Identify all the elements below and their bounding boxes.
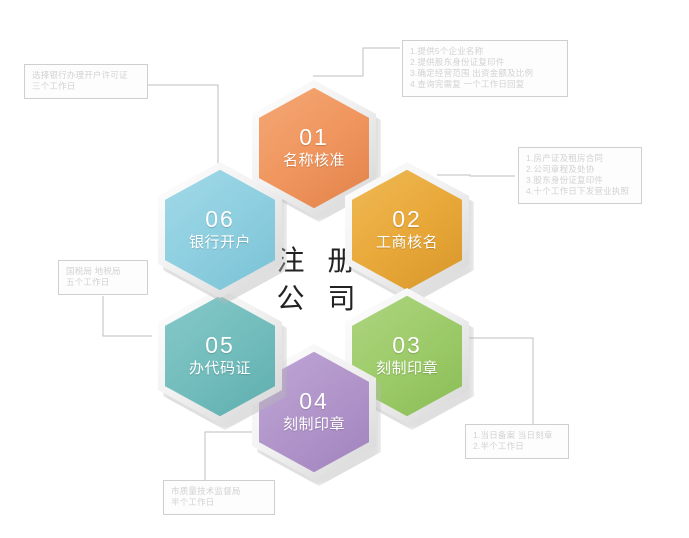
hexagon-label-06: 银行开户: [189, 233, 251, 253]
connector-left-middle: [103, 296, 152, 336]
note-bottom-right: 1.当日备案 当日刻章 2.半个工作日: [465, 424, 569, 459]
hexagon-number-01: 01: [299, 124, 329, 150]
note-bottom-center: 市质量技术监督局 半个工作日: [163, 480, 275, 515]
hexagon-step-06[interactable]: 06 银行开户: [158, 162, 282, 298]
hexagon-label-03: 刻制印章: [376, 359, 438, 379]
note-right-middle-line-2: 2.公司章程及处协: [526, 164, 634, 175]
hexagon-number-02: 02: [392, 206, 422, 232]
hexagon-label-01: 名称核准: [283, 151, 345, 171]
note-top-left-line-2: 三个工作日: [32, 81, 140, 92]
note-top-left: 选择银行办理开户许可证 三个工作日: [24, 64, 148, 99]
note-left-middle-line-1: 国税局 地税局: [66, 266, 140, 277]
hexagon-label-04: 刻制印章: [283, 415, 345, 435]
note-bottom-right-line-1: 1.当日备案 当日刻章: [473, 430, 561, 441]
note-top-right-line-1: 1.提供5个企业名称: [410, 46, 560, 57]
hexagon-number-04: 04: [299, 388, 329, 414]
registration-flow-diagram: 选择银行办理开户许可证 三个工作日 1.提供5个企业名称 2.提供股东身份证复印…: [0, 0, 689, 538]
note-right-middle-line-4: 4.十个工作日下发营业执照: [526, 186, 634, 197]
note-right-middle: 1.房产证及租房合同 2.公司章程及处协 3.股东身份证复印件 4.十个工作日下…: [518, 147, 642, 204]
note-top-right: 1.提供5个企业名称 2.提供股东身份证复印件 3.确定经营范围 出资金额及比例…: [402, 40, 568, 97]
note-bottom-center-line-2: 半个工作日: [171, 497, 267, 508]
note-top-right-line-3: 3.确定经营范围 出资金额及比例: [410, 68, 560, 79]
hexagon-label-05: 办代码证: [189, 359, 251, 379]
note-top-left-line-1: 选择银行办理开户许可证: [32, 70, 140, 81]
note-top-right-line-4: 4.查询完需复 一个工作日回复: [410, 79, 560, 90]
note-right-middle-line-3: 3.股东身份证复印件: [526, 175, 634, 186]
note-right-middle-line-1: 1.房产证及租房合同: [526, 153, 634, 164]
connector-top-left: [148, 85, 218, 168]
hexagon-number-06: 06: [205, 206, 235, 232]
hexagon-step-02[interactable]: 02 工商核名: [345, 162, 469, 298]
hexagon-number-03: 03: [392, 332, 422, 358]
hexagon-number-05: 05: [205, 332, 235, 358]
note-bottom-center-line-1: 市质量技术监督局: [171, 486, 267, 497]
note-top-right-line-2: 2.提供股东身份证复印件: [410, 57, 560, 68]
note-bottom-right-line-2: 2.半个工作日: [473, 441, 561, 452]
hexagon-step-05[interactable]: 05 办代码证: [158, 288, 282, 424]
hexagon-label-02: 工商核名: [376, 233, 438, 253]
note-left-middle: 国税局 地税局 五个工作日: [58, 260, 148, 295]
connector-top-right: [313, 48, 400, 76]
note-left-middle-line-2: 五个工作日: [66, 277, 140, 288]
